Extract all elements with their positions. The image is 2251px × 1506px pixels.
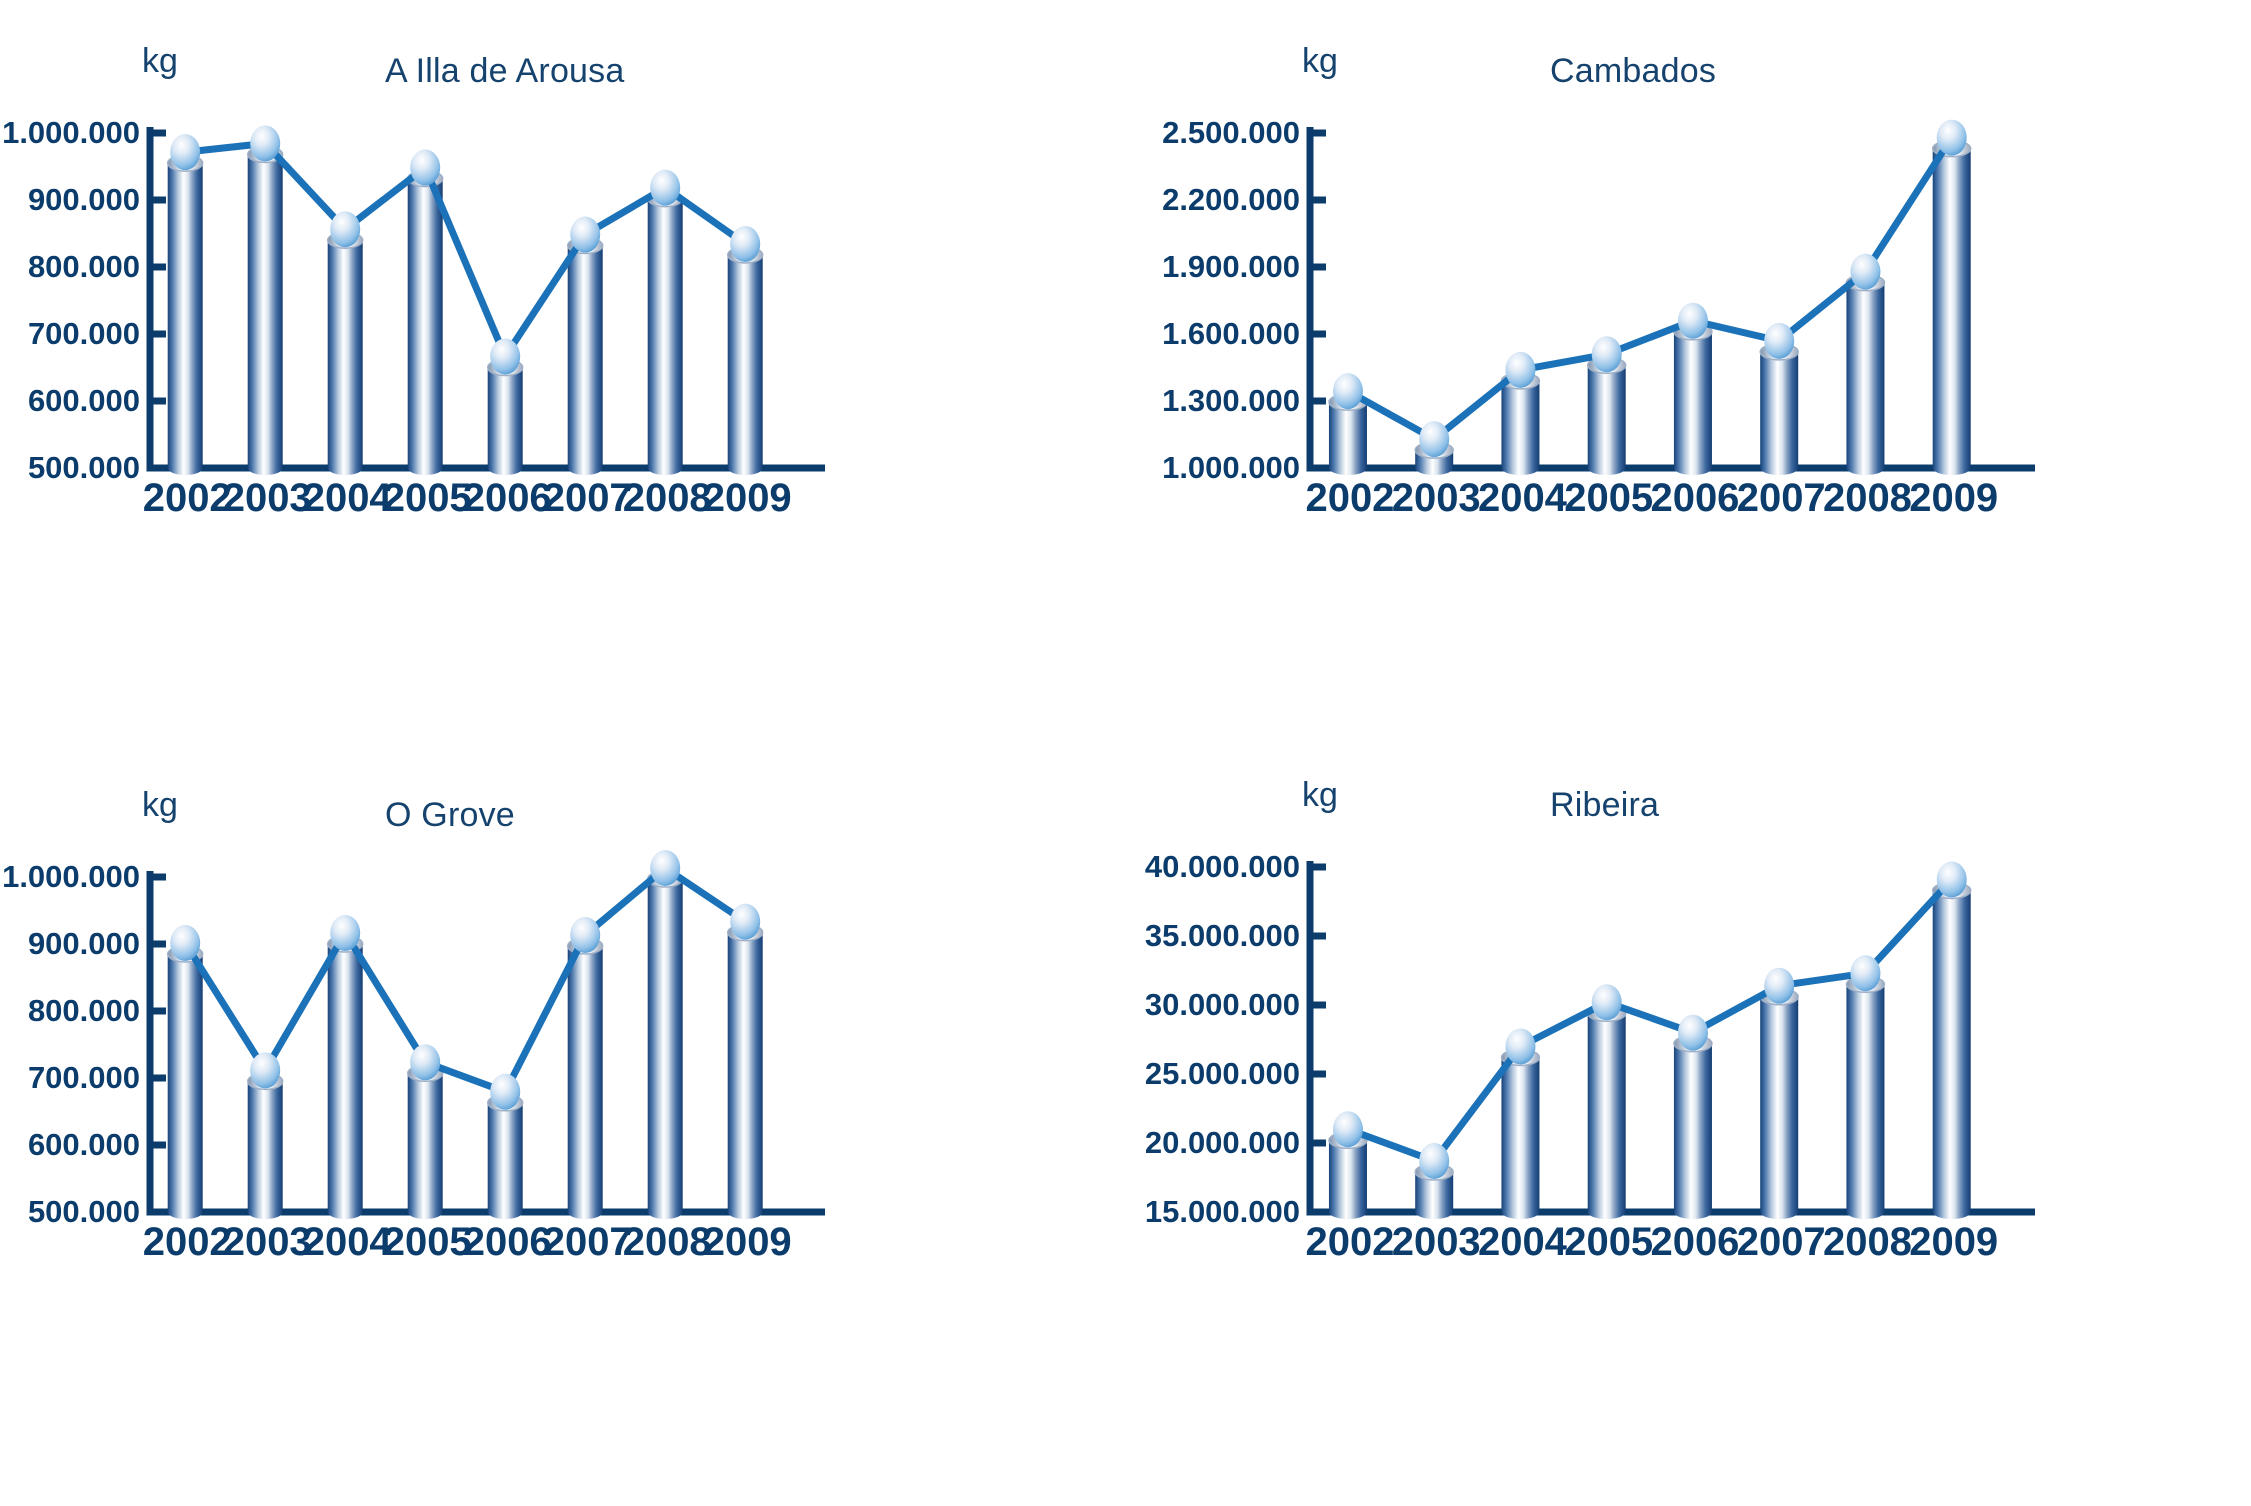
y-axis-unit-label-o-grove: kg: [142, 786, 178, 825]
data-point-o-grove-2002: [170, 925, 200, 961]
x-tick-label-o-grove-2004: 2004: [303, 1220, 392, 1265]
bar-a-illa-de-arousa-2005: [408, 171, 443, 475]
x-tick-label-a-illa-de-arousa-2005: 2005: [383, 476, 472, 521]
y-tick-label-a-illa-de-arousa-600000: 600.000: [28, 383, 140, 419]
x-tick-label-o-grove-2002: 2002: [143, 1220, 232, 1265]
y-tick-label-ribeira-25000000: 25.000.000: [1145, 1056, 1300, 1092]
x-tick-label-a-illa-de-arousa-2004: 2004: [303, 476, 392, 521]
bar-o-grove-2008: [648, 871, 683, 1219]
bar-ribeira-2009: [1933, 882, 1971, 1219]
x-tick-label-a-illa-de-arousa-2006: 2006: [463, 476, 552, 521]
bar-o-grove-2002: [168, 946, 203, 1219]
x-tick-label-o-grove-2006: 2006: [463, 1220, 552, 1265]
y-tick-label-cambados-1300000: 1.300.000: [1162, 383, 1300, 419]
data-point-o-grove-2005: [410, 1044, 440, 1080]
data-point-ribeira-2005: [1592, 984, 1622, 1020]
data-point-a-illa-de-arousa-2006: [490, 339, 520, 375]
data-point-ribeira-2008: [1850, 955, 1880, 991]
y-tick-label-o-grove-500000: 500.000: [28, 1194, 140, 1230]
data-point-cambados-2008: [1850, 254, 1880, 290]
data-point-a-illa-de-arousa-2008: [650, 170, 680, 206]
x-tick-label-cambados-2002: 2002: [1305, 476, 1394, 521]
x-tick-label-ribeira-2004: 2004: [1478, 1220, 1567, 1265]
x-tick-label-a-illa-de-arousa-2007: 2007: [543, 476, 632, 521]
x-tick-label-cambados-2009: 2009: [1909, 476, 1998, 521]
chart-title-o-grove: O Grove: [385, 796, 515, 835]
chart-grid: kgA Illa de Arousa500.000600.000700.0008…: [0, 0, 2251, 1501]
y-tick-label-a-illa-de-arousa-900000: 900.000: [28, 182, 140, 218]
data-point-cambados-2005: [1592, 336, 1622, 372]
y-tick-label-cambados-1000000: 1.000.000: [1162, 450, 1300, 486]
y-tick-label-ribeira-35000000: 35.000.000: [1145, 918, 1300, 954]
bar-a-illa-de-arousa-2004: [328, 232, 363, 475]
chart-panel-a-illa-de-arousa: kgA Illa de Arousa500.000600.000700.0008…: [0, 0, 1120, 750]
data-point-ribeira-2006: [1678, 1015, 1708, 1051]
bar-cambados-2007: [1760, 344, 1798, 475]
y-axis-unit-label-ribeira: kg: [1302, 776, 1338, 815]
data-point-a-illa-de-arousa-2002: [170, 134, 200, 170]
x-tick-label-ribeira-2003: 2003: [1392, 1220, 1481, 1265]
data-point-cambados-2002: [1333, 373, 1363, 409]
bar-cambados-2005: [1588, 357, 1626, 475]
x-tick-label-a-illa-de-arousa-2002: 2002: [143, 476, 232, 521]
y-tick-label-ribeira-40000000: 40.000.000: [1145, 849, 1300, 885]
x-tick-label-a-illa-de-arousa-2009: 2009: [703, 476, 792, 521]
data-point-a-illa-de-arousa-2004: [330, 211, 360, 247]
chart-title-ribeira: Ribeira: [1550, 786, 1659, 825]
bar-a-illa-de-arousa-2006: [488, 360, 523, 476]
data-point-a-illa-de-arousa-2009: [730, 226, 760, 262]
x-tick-label-cambados-2007: 2007: [1737, 476, 1826, 521]
data-point-cambados-2009: [1937, 120, 1967, 156]
data-point-ribeira-2004: [1505, 1028, 1535, 1064]
y-tick-label-cambados-2200000: 2.200.000: [1162, 182, 1300, 218]
data-point-ribeira-2009: [1937, 861, 1967, 897]
bar-a-illa-de-arousa-2007: [568, 238, 603, 475]
bar-cambados-2004: [1501, 373, 1539, 475]
x-tick-label-ribeira-2007: 2007: [1737, 1220, 1826, 1265]
chart-title-cambados: Cambados: [1550, 52, 1716, 91]
y-tick-label-cambados-2500000: 2.500.000: [1162, 115, 1300, 151]
bar-o-grove-2009: [728, 925, 763, 1219]
x-tick-label-o-grove-2005: 2005: [383, 1220, 472, 1265]
y-tick-label-a-illa-de-arousa-800000: 800.000: [28, 249, 140, 285]
chart-canvas-a-illa-de-arousa: [0, 0, 1120, 750]
bar-ribeira-2006: [1674, 1036, 1712, 1219]
bar-ribeira-2004: [1501, 1049, 1539, 1219]
chart-panel-ribeira: kgRibeira15.000.00020.000.00025.000.0003…: [1120, 750, 2251, 1501]
chart-canvas-cambados: [1120, 0, 2251, 750]
data-point-cambados-2004: [1505, 352, 1535, 388]
data-point-a-illa-de-arousa-2007: [570, 217, 600, 253]
x-tick-label-cambados-2004: 2004: [1478, 476, 1567, 521]
data-point-o-grove-2009: [730, 904, 760, 940]
data-point-o-grove-2008: [650, 850, 680, 886]
y-tick-label-ribeira-20000000: 20.000.000: [1145, 1125, 1300, 1161]
bar-o-grove-2007: [568, 938, 603, 1219]
data-point-cambados-2006: [1678, 303, 1708, 339]
bar-cambados-2006: [1674, 324, 1712, 475]
data-point-cambados-2003: [1419, 421, 1449, 457]
bar-o-grove-2003: [248, 1073, 283, 1219]
y-tick-label-cambados-1600000: 1.600.000: [1162, 316, 1300, 352]
chart-panel-cambados: kgCambados1.000.0001.300.0001.600.0001.9…: [1120, 0, 2251, 750]
x-tick-label-cambados-2003: 2003: [1392, 476, 1481, 521]
bar-ribeira-2008: [1846, 976, 1884, 1219]
data-point-ribeira-2002: [1333, 1111, 1363, 1147]
data-point-o-grove-2006: [490, 1074, 520, 1110]
x-tick-label-ribeira-2005: 2005: [1564, 1220, 1653, 1265]
data-point-ribeira-2003: [1419, 1143, 1449, 1179]
chart-canvas-o-grove: [0, 750, 1120, 1501]
y-tick-label-ribeira-15000000: 15.000.000: [1145, 1194, 1300, 1230]
x-tick-label-ribeira-2002: 2002: [1305, 1220, 1394, 1265]
x-tick-label-ribeira-2008: 2008: [1823, 1220, 1912, 1265]
data-point-o-grove-2007: [570, 917, 600, 953]
y-tick-label-o-grove-900000: 900.000: [28, 926, 140, 962]
x-tick-label-o-grove-2007: 2007: [543, 1220, 632, 1265]
data-point-a-illa-de-arousa-2005: [410, 150, 440, 186]
y-tick-label-a-illa-de-arousa-700000: 700.000: [28, 316, 140, 352]
x-tick-label-ribeira-2006: 2006: [1650, 1220, 1739, 1265]
y-tick-label-o-grove-600000: 600.000: [28, 1127, 140, 1163]
x-tick-label-cambados-2008: 2008: [1823, 476, 1912, 521]
y-tick-label-a-illa-de-arousa-1000000: 1.000.000: [2, 115, 140, 151]
data-point-o-grove-2003: [250, 1052, 280, 1088]
bar-cambados-2009: [1933, 141, 1971, 475]
bar-a-illa-de-arousa-2008: [648, 191, 683, 475]
y-axis-unit-label-cambados: kg: [1302, 42, 1338, 81]
y-tick-label-o-grove-800000: 800.000: [28, 993, 140, 1029]
data-point-ribeira-2007: [1764, 968, 1794, 1004]
bar-a-illa-de-arousa-2003: [248, 146, 283, 475]
y-tick-label-cambados-1900000: 1.900.000: [1162, 249, 1300, 285]
bar-o-grove-2006: [488, 1095, 523, 1219]
x-tick-label-a-illa-de-arousa-2003: 2003: [223, 476, 312, 521]
bar-o-grove-2004: [328, 936, 363, 1219]
y-tick-label-ribeira-30000000: 30.000.000: [1145, 987, 1300, 1023]
chart-title-a-illa-de-arousa: A Illa de Arousa: [385, 52, 624, 91]
data-point-a-illa-de-arousa-2003: [250, 125, 280, 161]
axis-lines-ribeira: [1310, 861, 2035, 1212]
y-tick-label-o-grove-700000: 700.000: [28, 1060, 140, 1096]
data-point-o-grove-2004: [330, 915, 360, 951]
y-tick-label-o-grove-1000000: 1.000.000: [2, 859, 140, 895]
x-tick-label-cambados-2006: 2006: [1650, 476, 1739, 521]
x-tick-label-ribeira-2009: 2009: [1909, 1220, 1998, 1265]
x-tick-label-cambados-2005: 2005: [1564, 476, 1653, 521]
bar-a-illa-de-arousa-2002: [168, 155, 203, 475]
bar-ribeira-2005: [1588, 1005, 1626, 1219]
y-axis-unit-label-a-illa-de-arousa: kg: [142, 42, 178, 81]
bar-cambados-2008: [1846, 275, 1884, 475]
data-point-cambados-2007: [1764, 323, 1794, 359]
x-tick-label-a-illa-de-arousa-2008: 2008: [623, 476, 712, 521]
bar-o-grove-2005: [408, 1065, 443, 1219]
x-tick-label-o-grove-2003: 2003: [223, 1220, 312, 1265]
bar-a-illa-de-arousa-2009: [728, 247, 763, 475]
bar-ribeira-2007: [1760, 989, 1798, 1219]
x-tick-label-o-grove-2009: 2009: [703, 1220, 792, 1265]
chart-panel-o-grove: kgO Grove500.000600.000700.000800.000900…: [0, 750, 1120, 1501]
y-tick-label-a-illa-de-arousa-500000: 500.000: [28, 450, 140, 486]
x-tick-label-o-grove-2008: 2008: [623, 1220, 712, 1265]
